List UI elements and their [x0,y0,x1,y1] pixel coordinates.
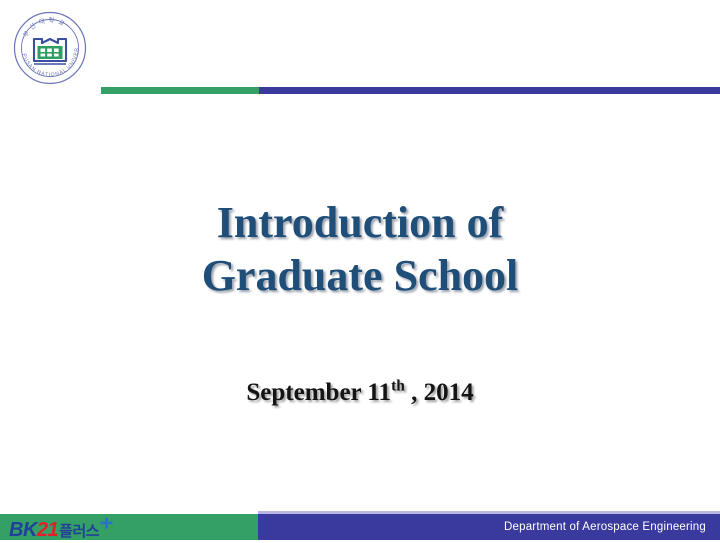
bk21-korean-text: 플러스 [59,520,99,541]
slide-date: September 11th , 2014 [0,378,720,408]
date-ordinal-suffix: th [391,378,405,395]
bk21-bk-text: BK [9,519,37,542]
bk21-number-text: 21 [37,519,58,542]
slide-title: Introduction of Graduate School [0,196,720,302]
header-rule-blue-segment [259,87,720,94]
date-month-day: September 11 [246,379,391,406]
slide-footer: BK21플러스 Department of Aerospace Engineer… [0,511,720,540]
pusan-national-university-seal-icon: 부산대학교 PUSAN NATIONAL UNIVERSITY [11,9,89,87]
presentation-slide: 부산대학교 PUSAN NATIONAL UNIVERSITY Introduc… [0,0,720,540]
slide-title-line-1: Introduction of [0,196,720,249]
plus-cross-icon [100,517,113,535]
footer-green-band: BK21플러스 [0,514,258,540]
bk21-plus-logo: BK21플러스 [9,518,113,543]
header-divider-rule [101,87,720,94]
footer-department-label: Department of Aerospace Engineering [504,514,706,540]
slide-title-line-2: Graduate School [0,249,720,302]
university-logo: 부산대학교 PUSAN NATIONAL UNIVERSITY [11,9,89,87]
date-year: , 2014 [405,379,474,406]
header-rule-green-segment [101,87,259,94]
slide-subtitle: September 11th , 2014 [0,378,720,408]
svg-text:부산대학교: 부산대학교 [21,15,69,39]
